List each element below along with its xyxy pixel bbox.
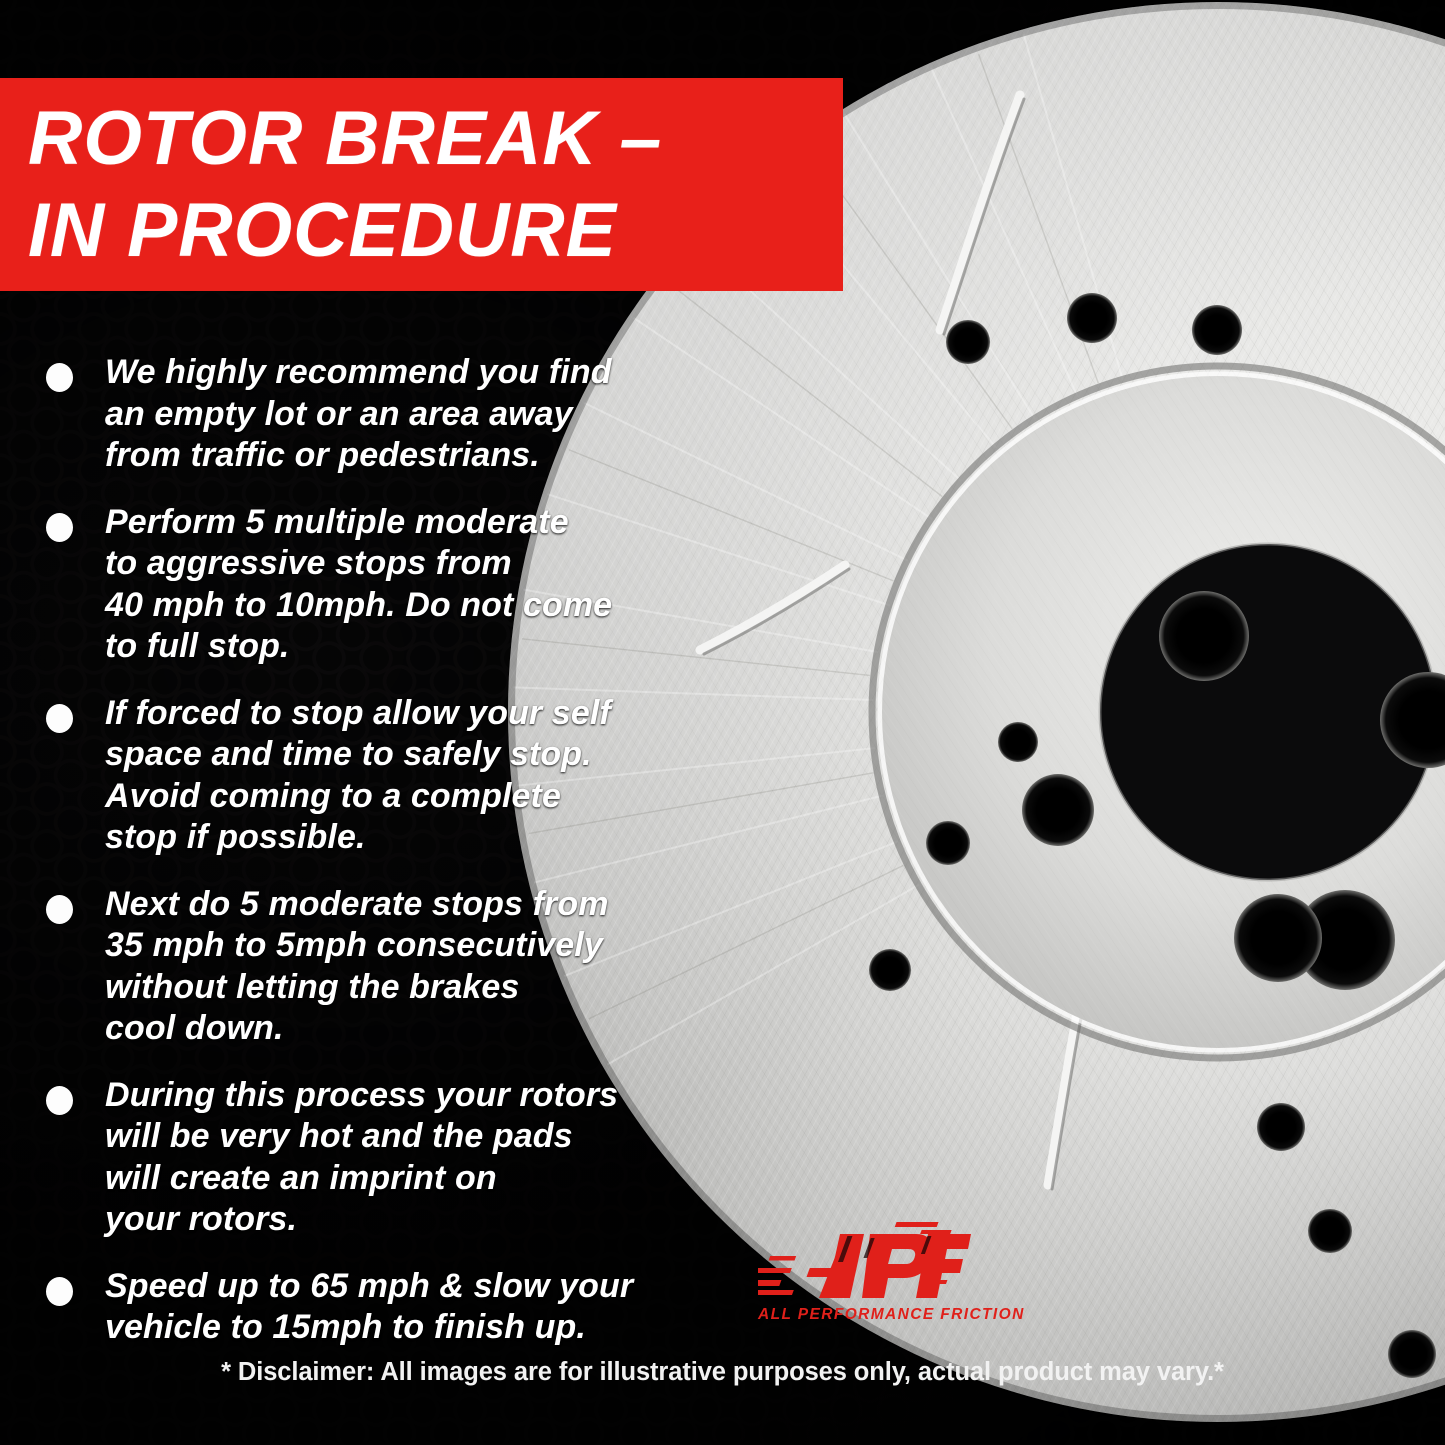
list-item: Next do 5 moderate stops from 35 mph to … (46, 884, 746, 1050)
list-item-text: Next do 5 moderate stops from 35 mph to … (105, 884, 609, 1050)
bullet-dot-icon (46, 513, 73, 542)
apf-tagline: ALL PERFORMANCE FRICTION (758, 1306, 973, 1324)
list-item: Perform 5 multiple moderate to aggressiv… (46, 502, 746, 668)
disclaimer-text: * Disclaimer: All images are for illustr… (0, 1358, 1445, 1387)
procedure-step-list: We highly recommend you find an empty lo… (46, 352, 746, 1374)
apf-wordmark-icon (758, 1218, 973, 1306)
list-item: During this process your rotors will be … (46, 1075, 746, 1241)
list-item-text: If forced to stop allow your self space … (105, 693, 611, 859)
bullet-dot-icon (46, 704, 73, 733)
bullet-dot-icon (46, 895, 73, 924)
list-item-text: Speed up to 65 mph & slow your vehicle t… (105, 1266, 633, 1349)
promo-graphic: ROTOR BREAK – IN PROCEDURE We highly rec… (0, 0, 1445, 1445)
page-title-line-1: ROTOR BREAK – (28, 93, 835, 185)
list-item-text: We highly recommend you find an empty lo… (105, 352, 612, 477)
bullet-dot-icon (46, 1277, 73, 1306)
bullet-dot-icon (46, 1086, 73, 1115)
list-item-text: During this process your rotors will be … (105, 1075, 618, 1241)
title-banner: ROTOR BREAK – IN PROCEDURE (0, 78, 843, 291)
list-item-text: Perform 5 multiple moderate to aggressiv… (105, 502, 612, 668)
list-item: We highly recommend you find an empty lo… (46, 352, 746, 477)
list-item: If forced to stop allow your self space … (46, 693, 746, 859)
apf-logo: ALL PERFORMANCE FRICTION (758, 1218, 973, 1330)
list-item: Speed up to 65 mph & slow your vehicle t… (46, 1266, 746, 1349)
bullet-dot-icon (46, 363, 73, 392)
page-title-line-2: IN PROCEDURE (28, 185, 835, 277)
